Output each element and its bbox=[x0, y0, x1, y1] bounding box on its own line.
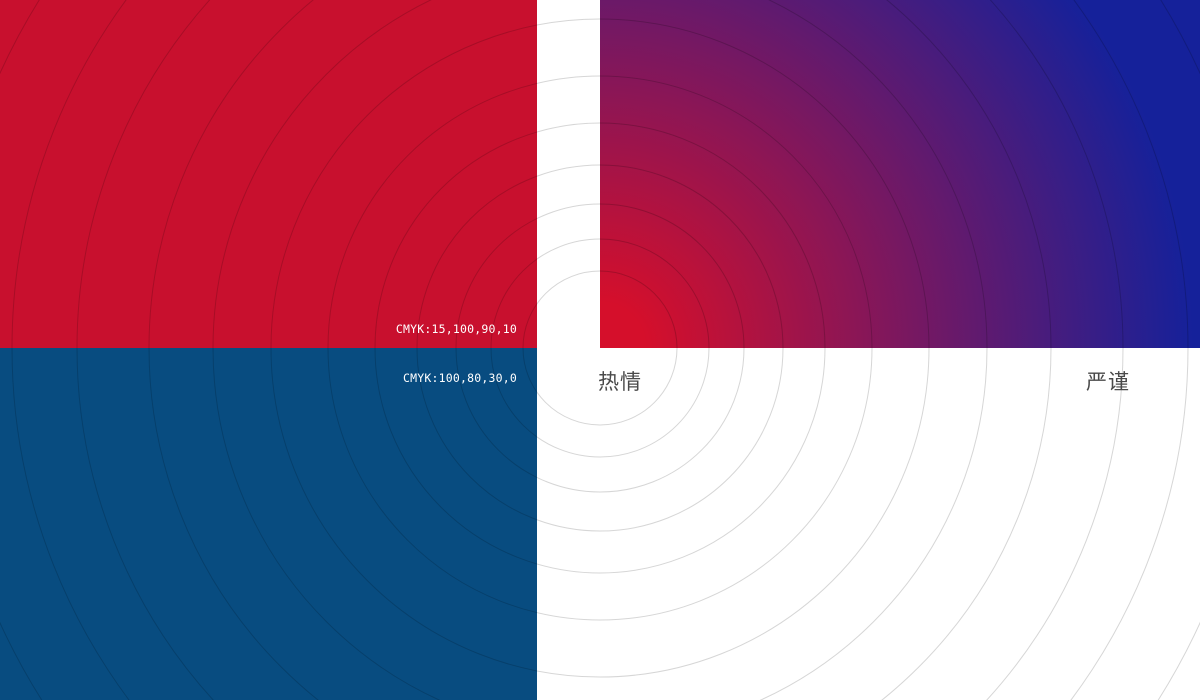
keyword-label-rigor: 严谨 bbox=[1086, 366, 1130, 396]
cmyk-code-red: CMYK:15,100,90,10 bbox=[396, 322, 517, 336]
cmyk-code-blue: CMYK:100,80,30,0 bbox=[403, 371, 517, 385]
red-to-blue-gradient-swatch bbox=[600, 0, 1200, 348]
blue-swatch bbox=[0, 348, 537, 700]
keyword-label-warm: 热情 bbox=[598, 366, 642, 396]
poster-canvas: CMYK:15,100,90,10 CMYK:100,80,30,0 热情 严谨 bbox=[0, 0, 1200, 700]
red-swatch bbox=[0, 0, 537, 348]
